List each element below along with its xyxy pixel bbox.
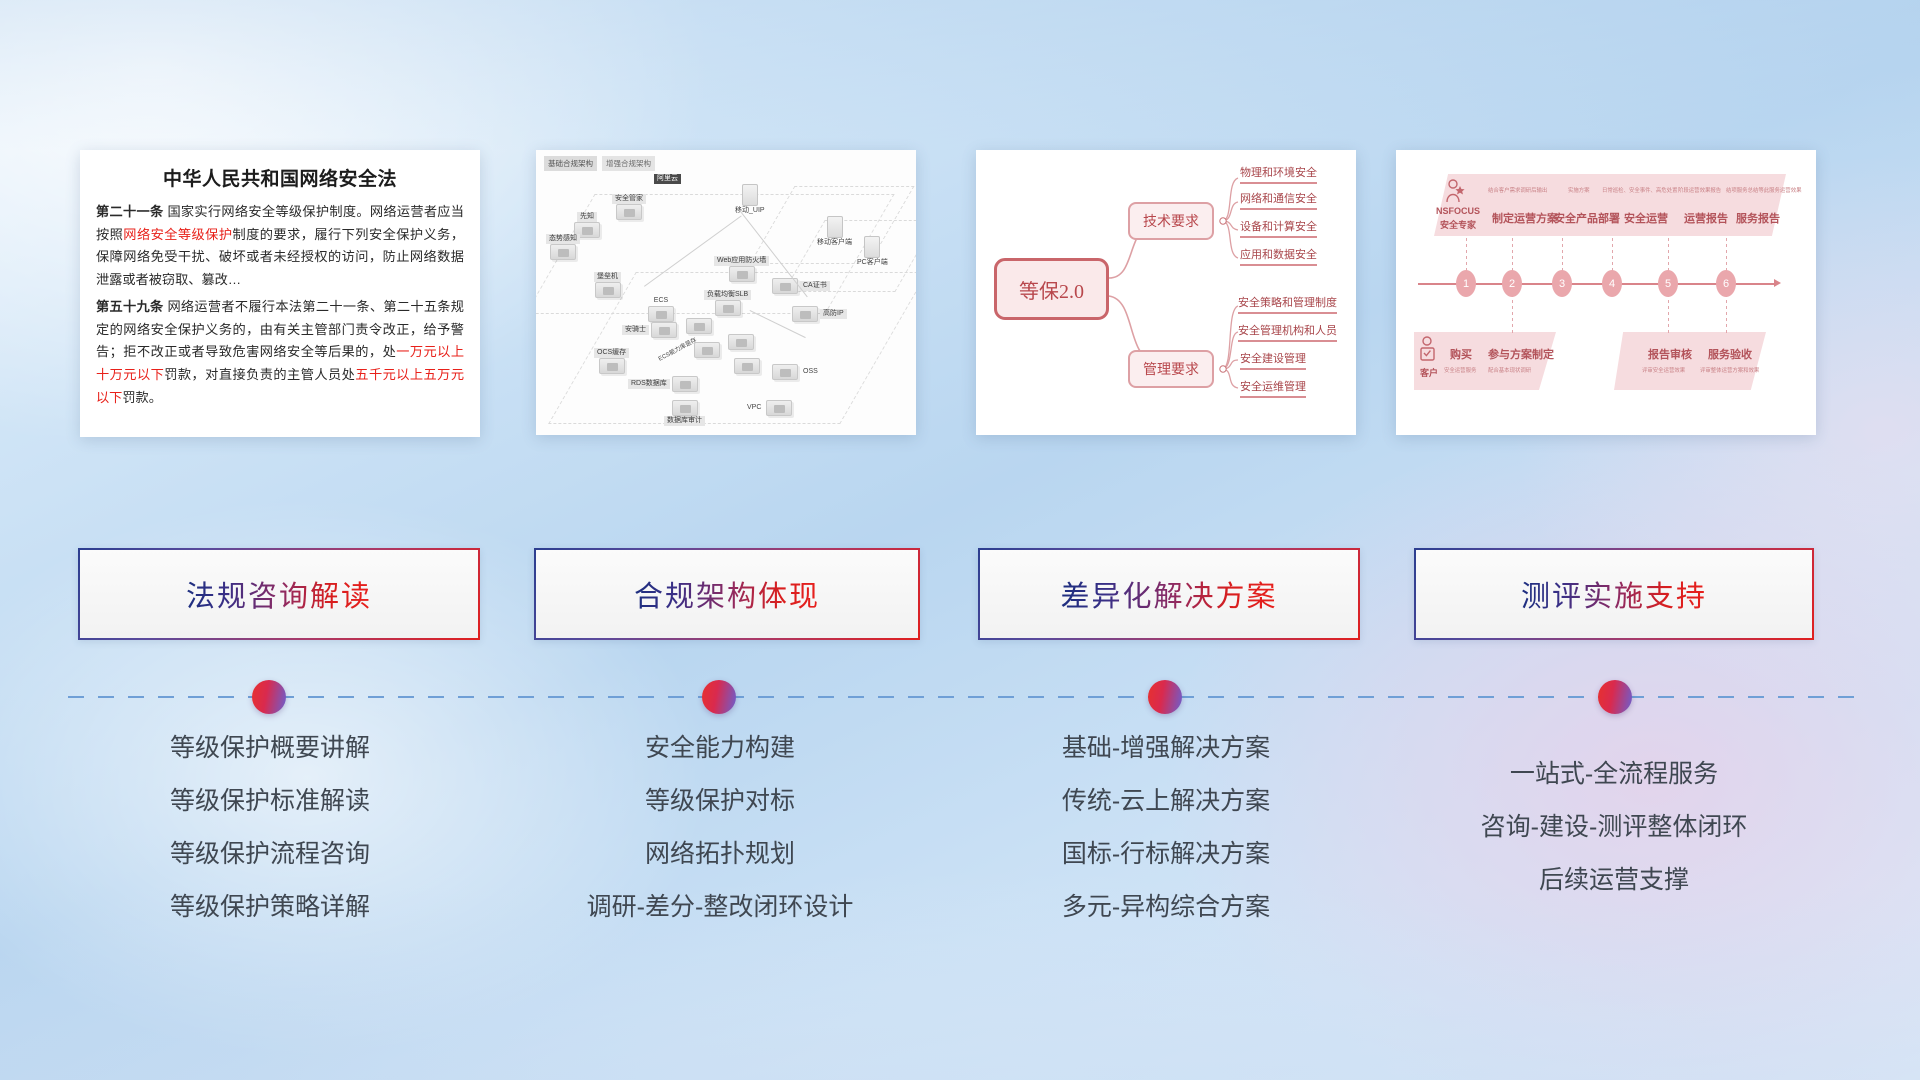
list-item: 基础-增强解决方案: [966, 736, 1366, 761]
list-item: 等级保护对标: [520, 789, 920, 814]
arch-node-situational-awareness: 态势感知: [546, 234, 580, 260]
law-article-59-text-b: 罚款，对直接负责的主管人员处: [164, 367, 355, 382]
nsfocus-bottom-label-1: 购买: [1450, 346, 1472, 362]
nsfocus-step-1: 1: [1456, 270, 1476, 297]
cube-icon: [672, 400, 698, 416]
nsfocus-top-label-4: 运营报告: [1684, 210, 1728, 226]
mindmap-branch-technical: 技术要求: [1128, 202, 1214, 240]
nsfocus-bottom-label-3: 报告审核: [1648, 346, 1692, 362]
cube-icon: [616, 204, 642, 220]
law-article-21-highlight: 网络安全等级保护: [123, 227, 232, 242]
nsfocus-step-5: 5: [1658, 270, 1678, 297]
nsfocus-bottom-label-2: 参与方案制定: [1488, 346, 1554, 362]
nsfocus-top-sub-4: 阶段运营效果报告: [1678, 186, 1721, 194]
detail-list-3: 基础-增强解决方案 传统-云上解决方案 国标-行标解决方案 多元-异构综合方案: [966, 736, 1366, 948]
card-mindmap-dengbao[interactable]: 等保2.0 技术要求 管理要求 物理和环境安全 网络和通信安全 设备和计算安全 …: [976, 150, 1356, 435]
list-item: 后续运营支撑: [1412, 868, 1816, 893]
architecture-tabs: 基础合规架构 增强合规架构: [544, 156, 655, 171]
nsfocus-top-sub-1: 结合客户需求调研后输出: [1488, 186, 1547, 194]
detail-list-2: 安全能力构建 等级保护对标 网络拓扑规划 调研-差分-整改闭环设计: [520, 736, 920, 948]
arch-node-bastion-host: 堡垒机: [594, 272, 621, 298]
mindmap-root: 等保2.0: [994, 258, 1109, 320]
cube-icon: [766, 400, 792, 416]
mindmap: 等保2.0 技术要求 管理要求 物理和环境安全 网络和通信安全 设备和计算安全 …: [976, 150, 1356, 435]
mindmap-leaf-physical-env: 物理和环境安全: [1240, 164, 1317, 184]
cube-icon: [672, 376, 698, 392]
mindmap-leaf-construction: 安全建设管理: [1240, 350, 1306, 370]
law-title: 中华人民共和国网络安全法: [96, 164, 464, 191]
cube-icon: [595, 282, 621, 298]
cube-icon: [599, 358, 625, 374]
list-item: 多元-异构综合方案: [966, 895, 1366, 920]
timeline-dot-4[interactable]: [1598, 680, 1632, 714]
nsfocus-axis-arrow: [1774, 279, 1781, 287]
nsfocus-top-band: [1434, 174, 1786, 236]
card-nsfocus-process[interactable]: NSFOCUS 安全专家 结合客户需求调研后输出 实施方案 日常巡检、安全事件、…: [1396, 150, 1816, 435]
arch-node-mobile-uip: 移动_UIP: [732, 184, 768, 216]
cube-icon: [729, 266, 755, 282]
arch-node-ecs: ECS: [648, 296, 674, 322]
timeline-dot-2[interactable]: [702, 680, 736, 714]
server-icon: [827, 216, 843, 238]
list-item: 咨询-建设-测评整体闭环: [1412, 815, 1816, 840]
timeline: [0, 668, 1920, 728]
arch-node-unlabeled-d: [734, 358, 760, 374]
list-item: 等级保护标准解读: [70, 789, 470, 814]
arch-node-rds: RDS数据库: [628, 376, 698, 392]
arch-node-oss: OSS: [772, 364, 821, 380]
cube-icon: [715, 300, 741, 316]
nsfocus-expert-role-label: 安全专家: [1440, 218, 1476, 231]
cube-icon: [651, 322, 677, 338]
detail-list-4: 一站式-全流程服务 咨询-建设-测评整体闭环 后续运营支撑: [1412, 762, 1816, 921]
list-item: 传统-云上解决方案: [966, 789, 1366, 814]
card-cloud-architecture[interactable]: 基础合规架构 增强合规架构 阿里云 安全管家 先知 态势感知 堡垒机: [536, 150, 916, 435]
cube-icon: [686, 318, 712, 334]
mindmap-leaf-policy-system: 安全策略和管理制度: [1238, 294, 1337, 314]
arch-node-ocs-cache: OCS缓存: [594, 348, 629, 374]
cube-icon: [772, 364, 798, 380]
timeline-dot-1[interactable]: [252, 680, 286, 714]
nsfocus-top-label-5: 服务报告: [1736, 210, 1780, 226]
detail-list-1: 等级保护概要讲解 等级保护标准解读 等级保护流程咨询 等级保护策略详解: [70, 736, 470, 948]
server-icon: [864, 236, 880, 258]
cube-icon: [648, 306, 674, 322]
title-label-3: 差异化解决方案: [1060, 573, 1277, 615]
law-article-59: 第五十九条 网络运营者不履行本法第二十一条、第二十五条规定的网络安全保护义务的，…: [96, 296, 464, 410]
nsfocus-top-label-1: 制定运营方案: [1492, 210, 1558, 226]
title-label-1: 法规咨询解读: [186, 573, 372, 615]
nsfocus-top-sub-5: 结项服务总结等此服务运营效果: [1726, 186, 1801, 194]
nsfocus-brand-label: NSFOCUS: [1436, 206, 1480, 216]
nsfocus-top-sub-2: 实施方案: [1568, 186, 1590, 194]
arch-node-anti-ddos-ip: 高防IP: [792, 306, 847, 322]
mindmap-leaf-device-compute: 设备和计算安全: [1240, 218, 1317, 238]
title-box-compliance-architecture[interactable]: 合规架构体现: [534, 548, 920, 640]
nsfocus-bottom-sub-2: 配合基本现状调研: [1488, 366, 1531, 374]
nsfocus-step-4: 4: [1602, 270, 1622, 297]
nsfocus-process-diagram: NSFOCUS 安全专家 结合客户需求调研后输出 实施方案 日常巡检、安全事件、…: [1396, 150, 1816, 435]
arch-node-security-steward: 安全管家: [612, 194, 646, 220]
list-item: 国标-行标解决方案: [966, 842, 1366, 867]
arch-node-aliyun: 阿里云: [654, 174, 681, 184]
title-box-assessment-support[interactable]: 测评实施支持: [1414, 548, 1814, 640]
title-label-4: 测评实施支持: [1521, 573, 1707, 615]
nsfocus-bottom-sub-1: 安全运营服务: [1444, 366, 1476, 374]
arch-node-vpc: VPC: [744, 400, 792, 416]
architecture-diagram: 基础合规架构 增强合规架构 阿里云 安全管家 先知 态势感知 堡垒机: [536, 150, 916, 435]
mindmap-leaf-org-personnel: 安全管理机构和人员: [1238, 322, 1337, 342]
list-item: 安全能力构建: [520, 736, 920, 761]
security-expert-icon: [1444, 178, 1466, 204]
nsfocus-bottom-sub-3: 评审安全运营效果: [1642, 366, 1685, 374]
list-item: 调研-差分-整改闭环设计: [520, 895, 920, 920]
arch-node-unlabeled-b: [694, 342, 720, 358]
mindmap-leaf-operations: 安全运维管理: [1240, 378, 1306, 398]
list-item: 网络拓扑规划: [520, 842, 920, 867]
cube-icon: [694, 342, 720, 358]
title-box-row: 法规咨询解读 合规架构体现 差异化解决方案 测评实施支持: [0, 548, 1920, 640]
list-item: 一站式-全流程服务: [1412, 762, 1816, 787]
title-label-2: 合规架构体现: [634, 573, 820, 615]
nsfocus-top-label-3: 安全运营: [1624, 210, 1668, 226]
title-box-regulation-consulting[interactable]: 法规咨询解读: [78, 548, 480, 640]
cube-icon: [792, 306, 818, 322]
nsfocus-step-2: 2: [1502, 270, 1522, 297]
cube-icon: [734, 358, 760, 374]
list-item: 等级保护概要讲解: [70, 736, 470, 761]
arch-node-slb: 负载均衡SLB: [704, 290, 751, 316]
arch-node-waf: Web应用防火墙: [714, 256, 769, 282]
tab-enhanced-compliance[interactable]: 增强合规架构: [602, 156, 655, 171]
nsfocus-top-sub-3: 日常巡检、安全事件、高危处置: [1602, 186, 1677, 194]
card-cybersecurity-law[interactable]: 中华人民共和国网络安全法 第二十一条 国家实行网络安全等级保护制度。网络运营者应…: [80, 150, 480, 437]
customer-icon: [1418, 336, 1438, 366]
mindmap-leaf-app-data: 应用和数据安全: [1240, 246, 1317, 266]
nsfocus-bottom-sub-4: 评审整体运营方案和效果: [1700, 366, 1759, 374]
image-card-row: 中华人民共和国网络安全法 第二十一条 国家实行网络安全等级保护制度。网络运营者应…: [0, 150, 1920, 442]
cube-icon: [550, 244, 576, 260]
nsfocus-customer-role-label: 客户: [1420, 366, 1438, 379]
tab-basic-compliance[interactable]: 基础合规架构: [544, 156, 597, 171]
arch-node-ca-cert: CA证书: [772, 278, 830, 294]
arch-node-unlabeled-a: [686, 318, 712, 334]
list-item: 等级保护策略详解: [70, 895, 470, 920]
nsfocus-top-label-2: 安全产品部署: [1554, 210, 1620, 226]
detail-list-row: 等级保护概要讲解 等级保护标准解读 等级保护流程咨询 等级保护策略详解 安全能力…: [0, 736, 1920, 996]
law-article-21-label: 第二十一条: [96, 204, 163, 219]
timeline-dashed-line: [68, 696, 1858, 698]
mindmap-branch-management: 管理要求: [1128, 350, 1214, 388]
arch-node-pc-client: PC客户端: [854, 236, 891, 268]
list-item: 等级保护流程咨询: [70, 842, 470, 867]
cube-icon: [728, 334, 754, 350]
title-box-differentiated-solution[interactable]: 差异化解决方案: [978, 548, 1360, 640]
nsfocus-step-6: 6: [1716, 270, 1736, 297]
nsfocus-step-3: 3: [1552, 270, 1572, 297]
arch-node-unlabeled-c: [728, 334, 754, 350]
mindmap-leaf-network-comm: 网络和通信安全: [1240, 190, 1317, 210]
server-icon: [742, 184, 758, 206]
nsfocus-bottom-label-4: 服务验收: [1708, 346, 1752, 362]
law-article-59-label: 第五十九条: [96, 299, 163, 314]
arch-node-mobile-client: 移动客户端: [814, 216, 855, 248]
law-article-59-text-c: 罚款。: [122, 390, 162, 405]
timeline-dot-3[interactable]: [1148, 680, 1182, 714]
arch-node-anqishi: 安骑士: [622, 322, 677, 338]
law-document: 中华人民共和国网络安全法 第二十一条 国家实行网络安全等级保护制度。网络运营者应…: [80, 150, 480, 417]
law-article-21: 第二十一条 国家实行网络安全等级保护制度。网络运营者应当按照网络安全等级保护制度…: [96, 201, 464, 292]
arch-node-db-audit: 数据库审计: [664, 400, 705, 426]
